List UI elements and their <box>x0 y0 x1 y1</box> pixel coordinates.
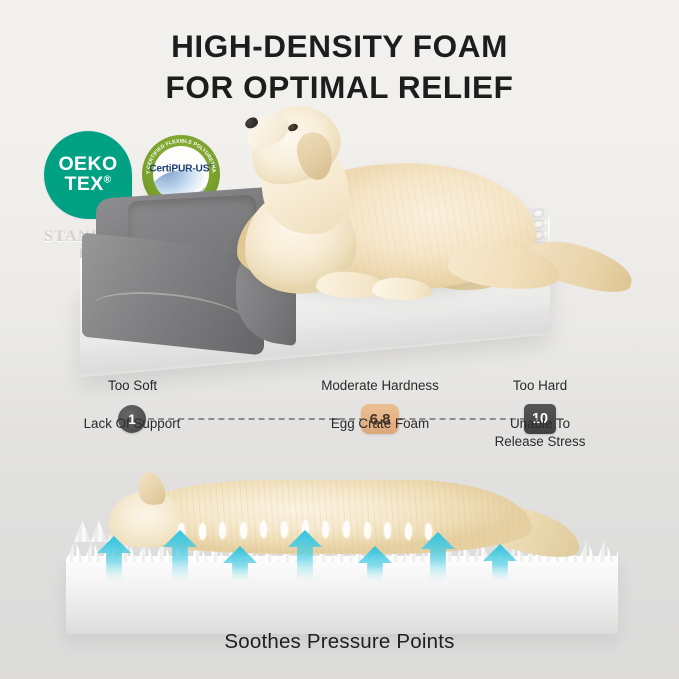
spine-dot <box>322 521 329 538</box>
hardness-scale: Too Soft 1 Lack Of Support Moderate Hard… <box>0 378 679 470</box>
title-line-1: HIGH-DENSITY FOAM <box>0 26 679 67</box>
scale-right-bottom-line2: Release Stress <box>495 434 586 449</box>
spine-dot <box>199 523 206 540</box>
spine-dot <box>219 522 226 539</box>
scale-left-bottom-label: Lack Of Support <box>62 415 202 433</box>
pressure-relief-illustration: Soothes Pressure Points <box>0 470 679 679</box>
scale-left-top-label: Too Soft <box>108 378 156 393</box>
spine-dot <box>302 520 309 537</box>
scale-middle-top-label: Moderate Hardness <box>300 378 460 393</box>
product-photo <box>0 96 679 381</box>
scale-right-bottom-label: Unable To Release Stress <box>482 415 598 450</box>
spine-dot <box>425 523 432 540</box>
spine-dot <box>343 521 350 538</box>
scale-right-bottom-line1: Unable To <box>510 416 570 431</box>
spine-dot <box>281 521 288 538</box>
spine-dots <box>176 520 444 540</box>
spine-dot <box>240 522 247 539</box>
bottom-caption: Soothes Pressure Points <box>0 630 679 654</box>
spine-dot <box>260 521 267 538</box>
spine-dot <box>178 523 185 540</box>
scale-right-top-label: Too Hard <box>498 378 582 393</box>
infographic-page: HIGH-DENSITY FOAM FOR OPTIMAL RELIEF OEK… <box>0 0 679 679</box>
scale-middle-bottom-label: Egg Crate Foam <box>310 415 450 433</box>
spine-dot <box>384 522 391 539</box>
spine-dot <box>364 522 371 539</box>
bottom-foam-slab <box>66 556 618 634</box>
spine-dot <box>405 523 412 540</box>
